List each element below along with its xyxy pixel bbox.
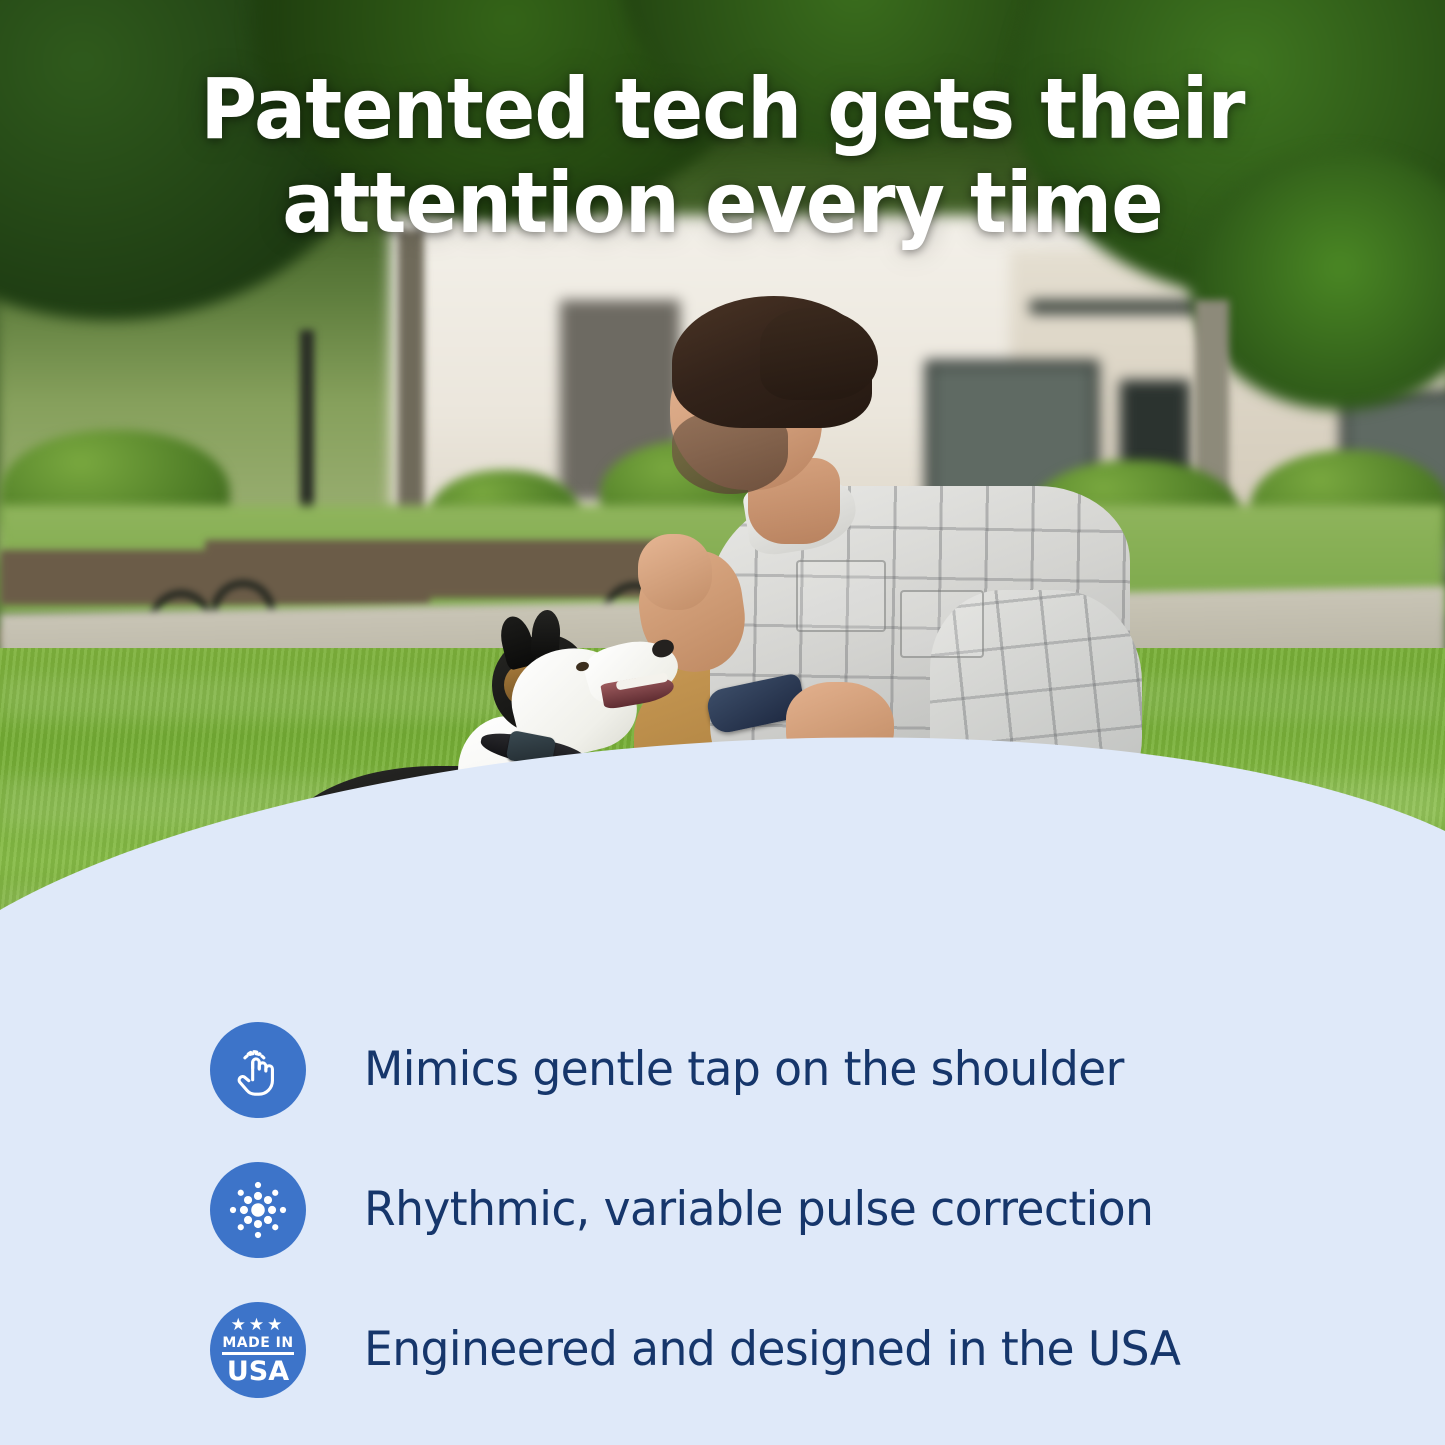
pulse-burst-icon [210,1162,306,1258]
feature-label-tap: Mimics gentle tap on the shoulder [364,1044,1124,1096]
feature-item-pulse: Rhythmic, variable pulse correction [0,1140,1445,1280]
tap-hand-icon [210,1022,306,1118]
product-feature-ad: Patented tech gets their attention every… [0,0,1445,1445]
man-shirt-pocket-right [900,590,984,658]
usa-badge-content: ★★★ MADE IN USA [222,1316,293,1385]
feature-list: Mimics gentle tap on the shoulder [0,1000,1445,1420]
made-in-usa-badge-icon: ★★★ MADE IN USA [210,1302,306,1398]
feature-item-usa: ★★★ MADE IN USA Engineered and designed … [0,1280,1445,1420]
man-treat-hand [638,534,712,610]
feature-item-tap: Mimics gentle tap on the shoulder [0,1000,1445,1140]
feature-label-usa: Engineered and designed in the USA [364,1324,1180,1376]
usa-made-in-text: MADE IN [222,1336,293,1355]
page-title: Patented tech gets their attention every… [58,62,1387,250]
man-shirt-pocket-left [796,560,886,632]
headline-line-1: Patented tech gets their [58,62,1387,156]
usa-stars-icon: ★★★ [231,1316,286,1333]
tree-trunk-left [398,230,424,530]
headline-line-2: attention every time [58,156,1387,250]
feature-label-pulse: Rhythmic, variable pulse correction [364,1184,1153,1236]
usa-text: USA [227,1358,289,1385]
man-hair-back [760,308,878,400]
